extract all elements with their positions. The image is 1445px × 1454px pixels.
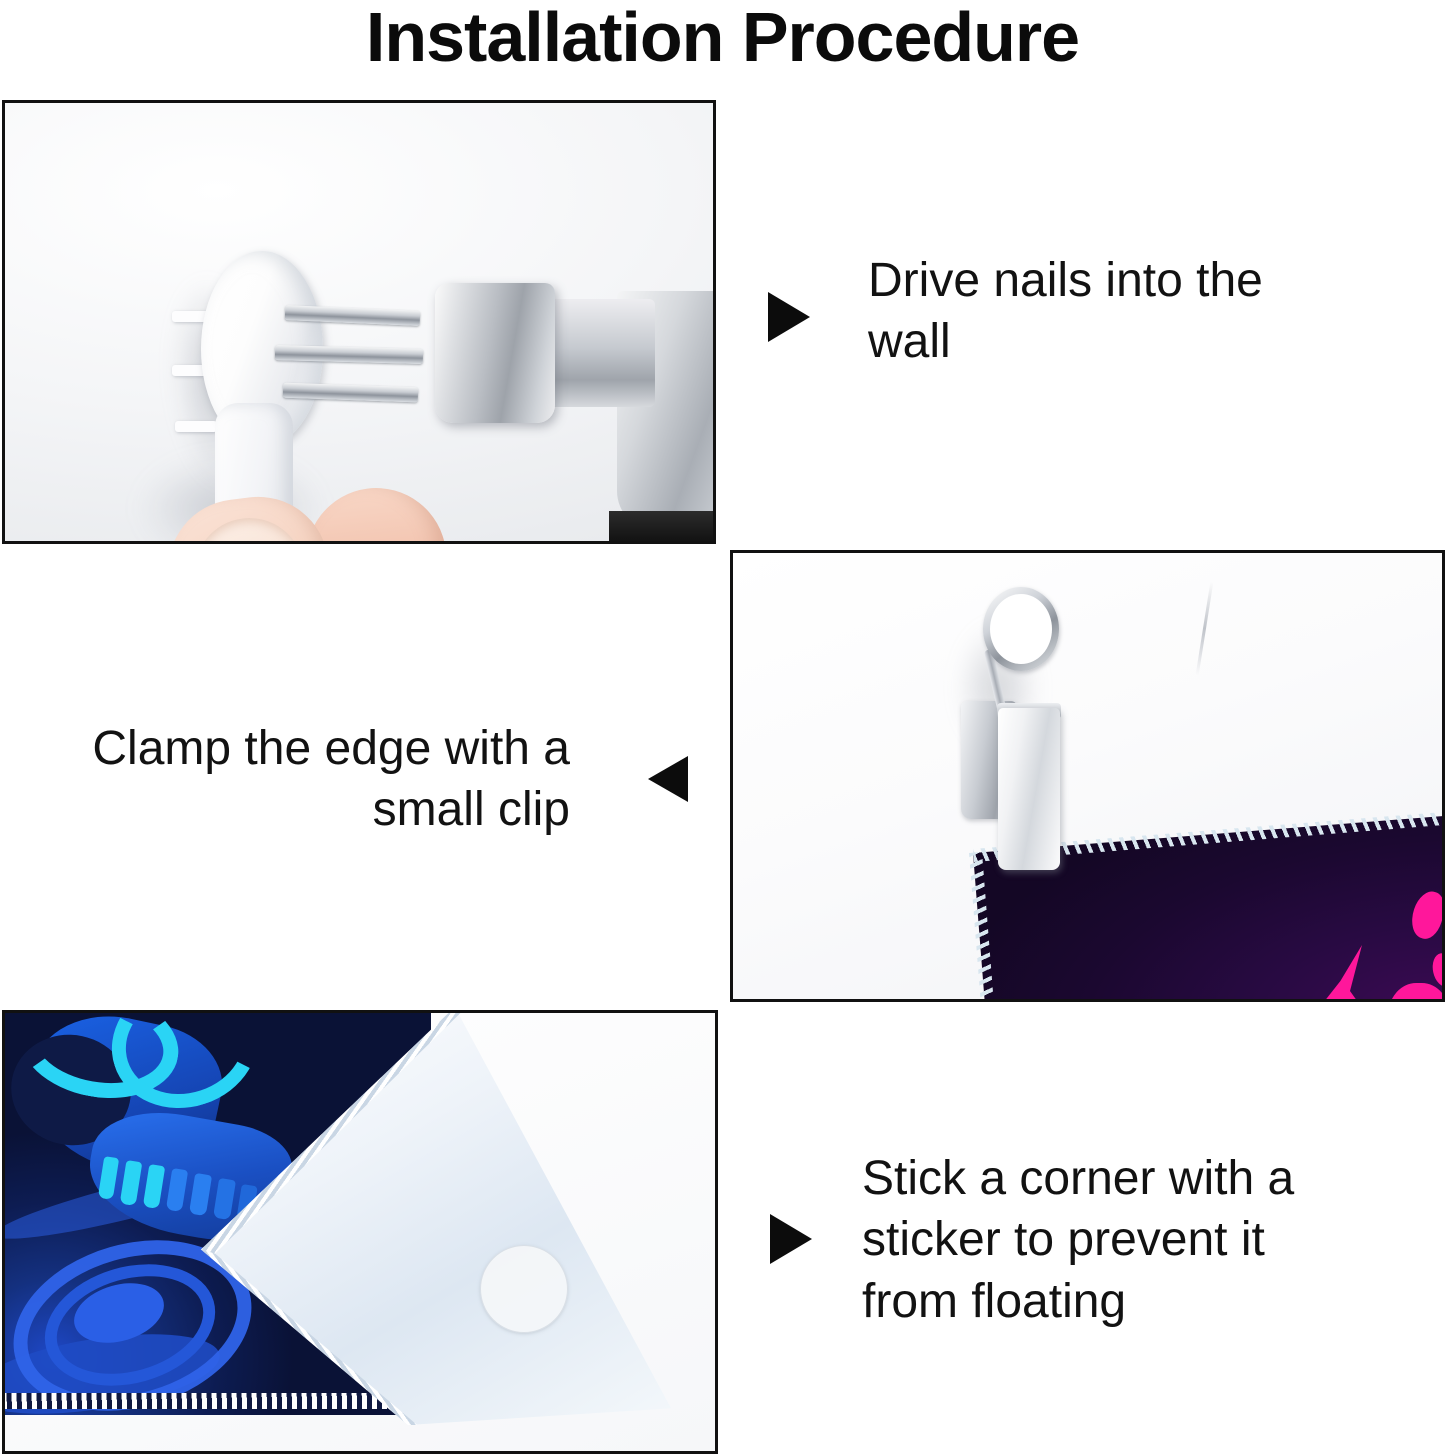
hammer-neck (545, 299, 655, 407)
step-1-caption: Drive nails into the wall (868, 250, 1268, 373)
step-2-caption: Clamp the edge with a small clip (70, 718, 570, 841)
photo-clamp-clip (730, 550, 1445, 1002)
tapestry-hem-stitching (2, 1393, 427, 1409)
page-title: Installation Procedure (0, 2, 1445, 72)
step-3-caption: Stick a corner with a sticker to prevent… (862, 1148, 1322, 1332)
clip-plate (998, 708, 1060, 870)
hammer-handle-band (609, 511, 716, 544)
photo-sticker-corner (2, 1010, 718, 1454)
adhesive-sticker (480, 1245, 568, 1333)
triangle-left-icon (648, 756, 688, 802)
hammer-head (435, 283, 555, 423)
hook-wing (175, 421, 217, 432)
triangle-right-icon (770, 1214, 812, 1264)
triangle-right-icon (768, 292, 810, 342)
clip-ring (983, 587, 1059, 671)
photo-drive-nails (2, 100, 716, 544)
